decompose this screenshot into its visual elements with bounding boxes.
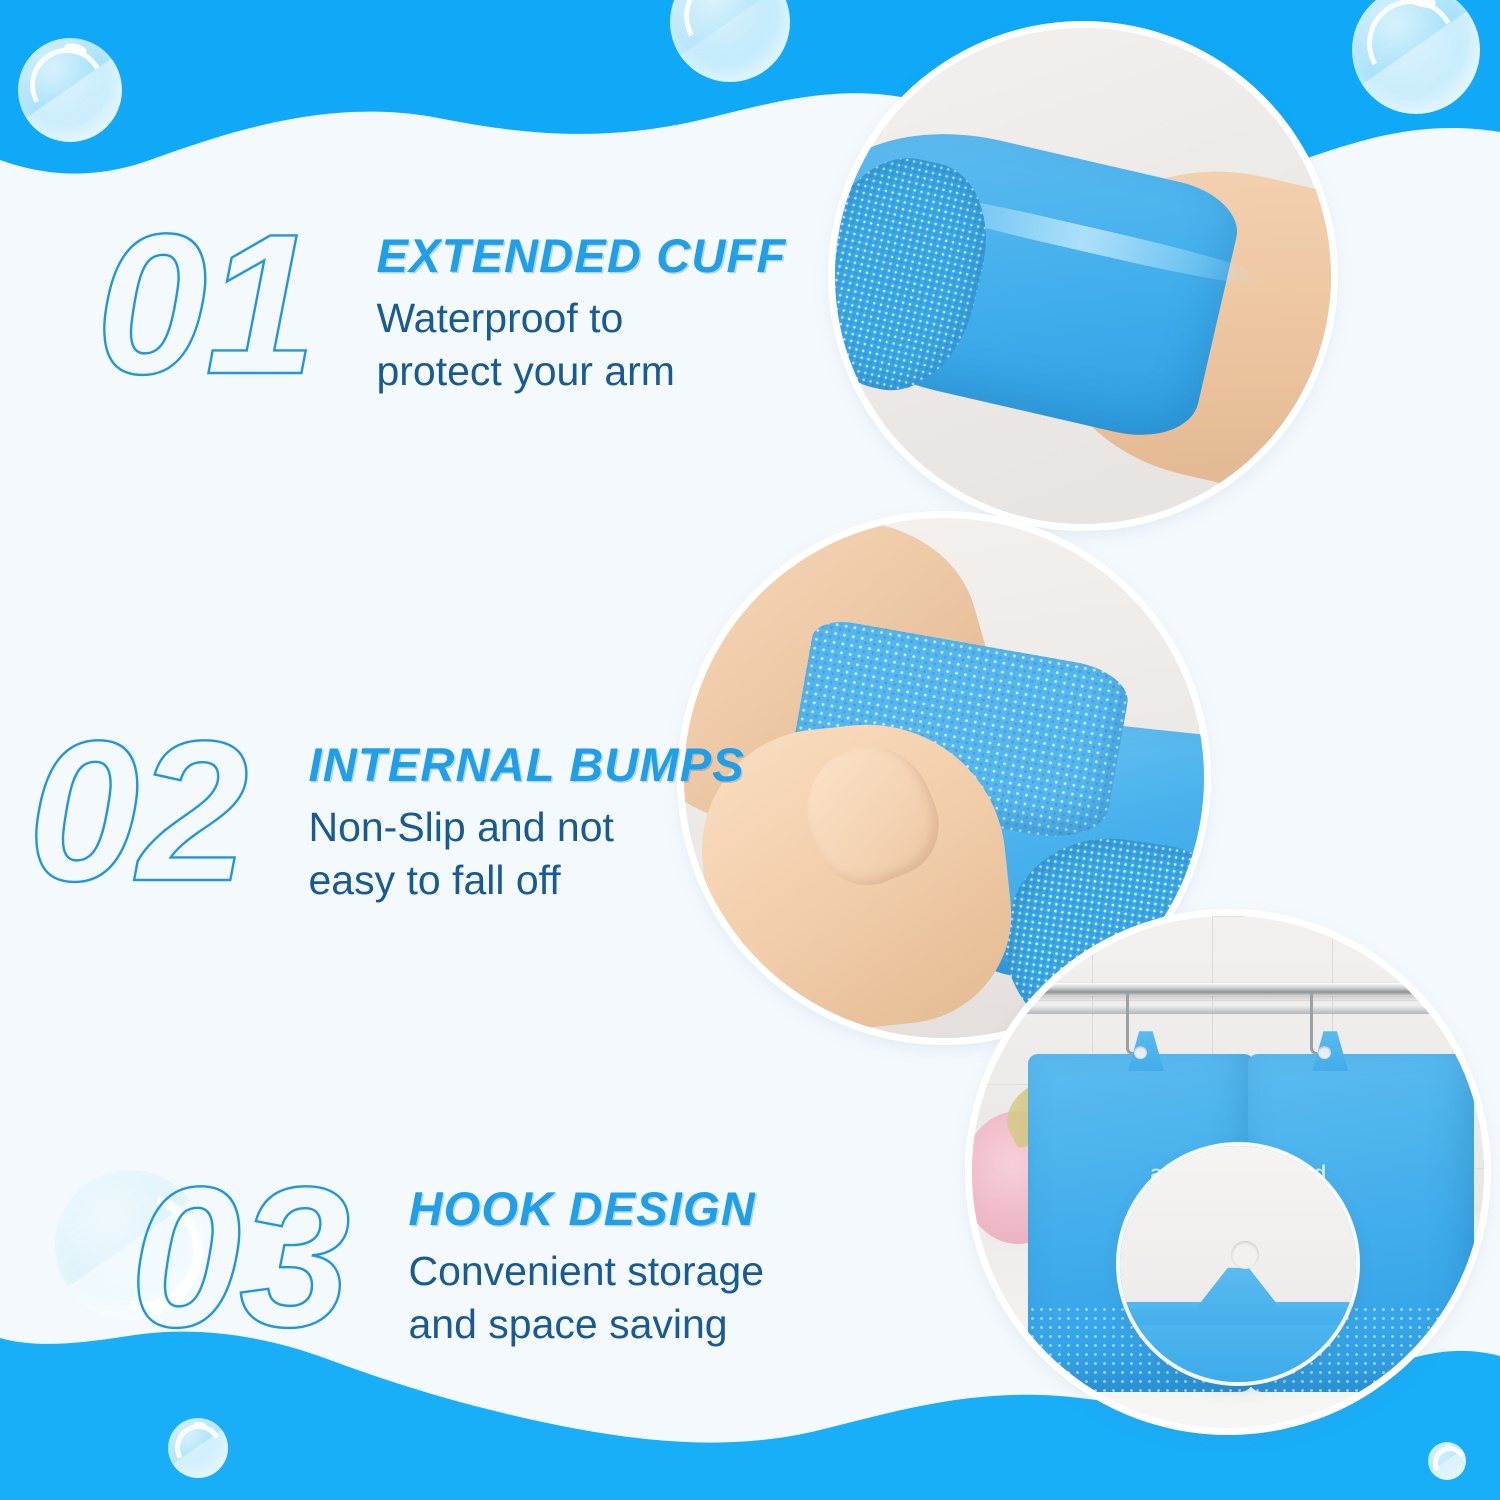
shower-rail: [992, 983, 1484, 996]
inset-hook-hole: [1231, 1241, 1259, 1269]
feature-heading-02: INTERNAL BUMPS: [308, 740, 744, 789]
product-photo-extended-cuff: [835, 28, 1331, 524]
feature-text-block-01: EXTENDED CUFF Waterproof to protect your…: [376, 205, 786, 397]
feature-row-02: 02 INTERNAL BUMPS Non-Slip and not easy …: [28, 712, 745, 912]
metal-hook-right: [1310, 993, 1317, 1055]
feature-text-block-02: INTERNAL BUMPS Non-Slip and not easy to …: [308, 712, 744, 906]
feature-row-03: 03 HOOK DESIGN Convenient storage and sp…: [130, 1158, 764, 1358]
feature-body-01: Waterproof to protect your arm: [376, 292, 786, 397]
photo-3-scene: beamagic scents: [972, 916, 1484, 1428]
hook-hole-left: [1134, 1046, 1147, 1059]
feature-number-01: 01: [96, 205, 314, 405]
feature-text-block-03: HOOK DESIGN Convenient storage and space…: [408, 1158, 764, 1350]
feature-heading-03: HOOK DESIGN: [408, 1184, 764, 1233]
feature-number-03: 03: [130, 1158, 348, 1358]
hook-hole-right: [1318, 1046, 1331, 1059]
shower-rail-shadow: [992, 1006, 1484, 1014]
bubble-wave-right: [1428, 1442, 1466, 1480]
feature-heading-01: EXTENDED CUFF: [376, 231, 786, 280]
product-photo-hook-design: beamagic scents: [972, 916, 1484, 1428]
feature-row-01: 01 EXTENDED CUFF Waterproof to protect y…: [96, 205, 786, 405]
bubble-top-left: [18, 38, 122, 142]
hook-closeup-inset: [1120, 1146, 1356, 1382]
feature-body-03: Convenient storage and space saving: [408, 1245, 764, 1350]
inset-hook-ridge: [1120, 1264, 1356, 1325]
infographic-canvas: beamagic scents 01 EXTENDED CUFF Waterpr…: [0, 0, 1500, 1500]
feature-number-02: 02: [28, 712, 246, 912]
feature-body-02: Non-Slip and not easy to fall off: [308, 801, 744, 906]
photo-1-scene: [835, 28, 1331, 524]
bubble-wave-left: [168, 1418, 228, 1478]
metal-hook-left: [1126, 993, 1133, 1055]
bubble-top-right: [1352, 0, 1480, 114]
bubble-top-mid: [670, 0, 790, 82]
